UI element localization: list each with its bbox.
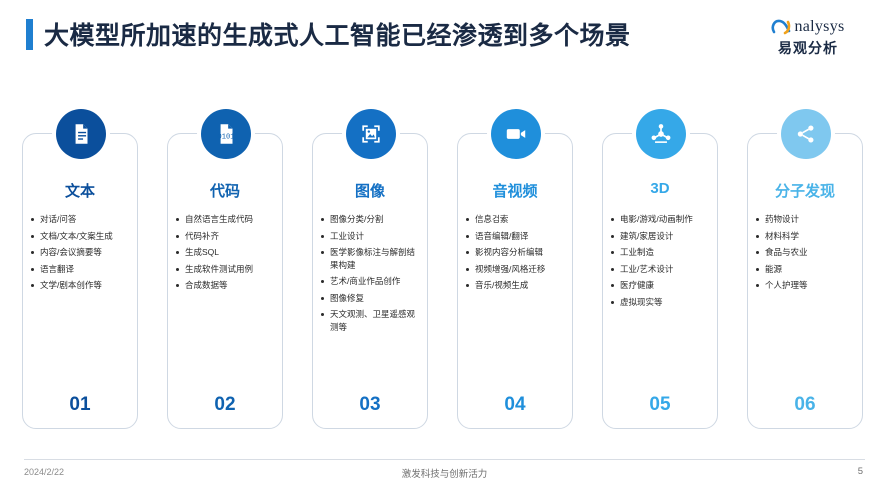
list-item: 生成软件测试用例 — [176, 263, 276, 276]
list-item: 虚拟现实等 — [611, 296, 711, 309]
footer-slogan: 激发科技与创新活力 — [0, 466, 889, 480]
molecule-node-icon — [636, 109, 686, 159]
list-item: 工业/艺术设计 — [611, 263, 711, 276]
card-icon-badge — [52, 105, 110, 163]
list-item: 医疗健康 — [611, 279, 711, 292]
video-camera-icon — [491, 109, 541, 159]
list-item: 天文观测、卫星遥感观测等 — [321, 308, 421, 333]
category-card-row: 文本 对话/问答 文档/文本/文案生成 内容/会议摘要等 语言翻译 文学/剧本创… — [22, 105, 867, 430]
card-icon-badge — [487, 105, 545, 163]
card-number: 06 — [747, 394, 863, 416]
list-item: 影视内容分析编辑 — [466, 246, 566, 259]
slide-header: 大模型所加速的生成式人工智能已经渗透到多个场景 nalysys 易观分析 — [0, 0, 889, 75]
list-item: 内容/会议摘要等 — [31, 246, 131, 259]
footer-divider — [24, 459, 865, 460]
category-card[interactable]: 图像 图像分类/分割 工业设计 医学影像标注与解剖结果构建 艺术/商业作品创作 … — [312, 105, 430, 430]
category-card[interactable]: 文本 对话/问答 文档/文本/文案生成 内容/会议摘要等 语言翻译 文学/剧本创… — [22, 105, 140, 430]
slide: 大模型所加速的生成式人工智能已经渗透到多个场景 nalysys 易观分析 — [0, 0, 889, 500]
svg-text:0101: 0101 — [218, 133, 235, 141]
card-number: 04 — [457, 394, 573, 416]
list-item: 食品与农业 — [756, 246, 856, 259]
list-item: 药物设计 — [756, 213, 856, 226]
list-item: 视频增强/风格迁移 — [466, 263, 566, 276]
list-item: 自然语言生成代码 — [176, 213, 276, 226]
card-number: 01 — [22, 394, 138, 416]
list-item: 对话/问答 — [31, 213, 131, 226]
code-file-icon: 0101 — [201, 109, 251, 159]
category-card[interactable]: 0101 代码 自然语言生成代码 代码补齐 生成SQL 生成软件测试用例 合成数… — [167, 105, 285, 430]
card-title: 文本 — [22, 180, 138, 201]
page-title: 大模型所加速的生成式人工智能已经渗透到多个场景 — [44, 16, 631, 52]
category-card[interactable]: 分子发现 药物设计 材料科学 食品与农业 能源 个人护理等 06 — [747, 105, 865, 430]
card-icon-badge: 0101 — [197, 105, 255, 163]
list-item: 文学/剧本创作等 — [31, 279, 131, 292]
list-item: 代码补齐 — [176, 230, 276, 243]
card-number: 05 — [602, 394, 718, 416]
card-title: 3D — [602, 180, 718, 197]
logo-mark-icon — [771, 18, 791, 36]
list-item: 能源 — [756, 263, 856, 276]
card-number: 02 — [167, 394, 283, 416]
category-card[interactable]: 音视频 信息검索 语音编辑/翻译 影视内容分析编辑 视频增强/风格迁移 音乐/视… — [457, 105, 575, 430]
list-item: 电影/游戏/动画制作 — [611, 213, 711, 226]
card-icon-badge — [632, 105, 690, 163]
title-accent-bar — [26, 19, 33, 50]
card-item-list: 图像分类/分割 工业设计 医学影像标注与解剖结果构建 艺术/商业作品创作 图像修… — [321, 213, 421, 337]
list-item: 个人护理等 — [756, 279, 856, 292]
list-item: 工业设计 — [321, 230, 421, 243]
brand-logo: nalysys 易观分析 — [749, 18, 867, 58]
category-card[interactable]: 3D 电影/游戏/动画制作 建筑/家居设计 工业制造 工业/艺术设计 医疗健康 … — [602, 105, 720, 430]
card-number: 03 — [312, 394, 428, 416]
card-item-list: 药物设计 材料科学 食品与农业 能源 个人护理等 — [756, 213, 856, 296]
list-item: 文档/文本/文案生成 — [31, 230, 131, 243]
list-item: 工业制造 — [611, 246, 711, 259]
card-title: 图像 — [312, 180, 428, 201]
card-item-list: 自然语言生成代码 代码补齐 生成SQL 生成软件测试用例 合成数据等 — [176, 213, 276, 296]
list-item: 图像分类/分割 — [321, 213, 421, 226]
list-item: 语言翻译 — [31, 263, 131, 276]
card-icon-badge — [777, 105, 835, 163]
list-item: 生成SQL — [176, 246, 276, 259]
list-item: 音乐/视频生成 — [466, 279, 566, 292]
card-title: 分子发现 — [747, 180, 863, 201]
list-item: 建筑/家居设计 — [611, 230, 711, 243]
list-item: 合成数据等 — [176, 279, 276, 292]
share-nodes-icon — [781, 109, 831, 159]
list-item: 艺术/商业作品创作 — [321, 275, 421, 288]
image-frame-icon — [346, 109, 396, 159]
list-item: 信息검索 — [466, 213, 566, 226]
logo-chinese-name: 易观分析 — [749, 38, 867, 58]
list-item: 材料科学 — [756, 230, 856, 243]
list-item: 语音编辑/翻译 — [466, 230, 566, 243]
card-item-list: 对话/问答 文档/文本/文案生成 内容/会议摘要等 语言翻译 文学/剧本创作等 — [31, 213, 131, 296]
card-title: 代码 — [167, 180, 283, 201]
logo-wordmark: nalysys — [794, 18, 844, 36]
list-item: 医学影像标注与解剖结果构建 — [321, 246, 421, 271]
footer-page-number: 5 — [858, 466, 863, 477]
card-title: 音视频 — [457, 180, 573, 201]
document-icon — [56, 109, 106, 159]
card-icon-badge — [342, 105, 400, 163]
card-item-list: 电影/游戏/动画制作 建筑/家居设计 工业制造 工业/艺术设计 医疗健康 虚拟现… — [611, 213, 711, 312]
card-item-list: 信息검索 语音编辑/翻译 影视内容分析编辑 视频增强/风格迁移 音乐/视频生成 — [466, 213, 566, 296]
list-item: 图像修复 — [321, 292, 421, 305]
